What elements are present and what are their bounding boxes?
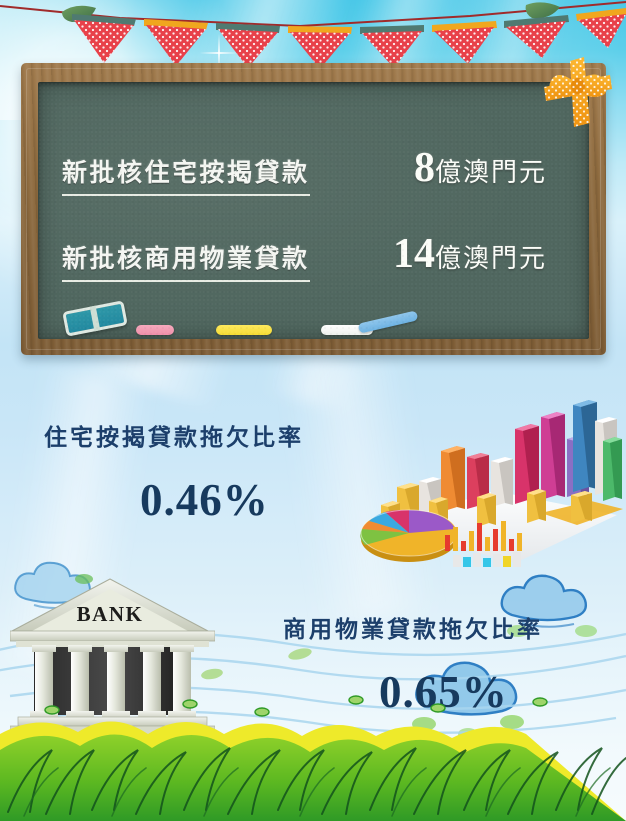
bunting-banner xyxy=(0,0,626,70)
board-value-number: 14 xyxy=(393,231,435,277)
board-value-unit: 億澳門元 xyxy=(435,244,547,273)
stat-value: 0.46% xyxy=(140,474,304,526)
stat-title: 住宅按揭貸款拖欠比率 xyxy=(44,418,304,452)
ribbon-bow-icon xyxy=(540,53,614,139)
chalkboard: 新批核住宅按揭貸款 8億澳門元 新批核商用物業貸款 14億澳門元 xyxy=(21,63,606,355)
stat-title: 商用物業貸款拖欠比率 xyxy=(283,610,543,644)
board-row: 新批核住宅按揭貸款 8億澳門元 xyxy=(38,144,589,196)
eraser-icon xyxy=(62,300,128,336)
board-row: 新批核商用物業貸款 14億澳門元 xyxy=(38,230,589,282)
stat-block-residential-delinquency: 住宅按揭貸款拖欠比率 0.46% xyxy=(44,418,304,526)
board-label-residential-loans: 新批核住宅按揭貸款 xyxy=(62,153,310,196)
chalk-stick-yellow-icon xyxy=(216,325,272,335)
bank-sign-text: BANK xyxy=(77,602,144,626)
board-value-commercial-loans: 14億澳門元 xyxy=(393,230,547,278)
chalkboard-surface: 新批核住宅按揭貸款 8億澳門元 新批核商用物業貸款 14億澳門元 xyxy=(38,82,589,339)
board-value-residential-loans: 8億澳門元 xyxy=(414,144,547,192)
board-label-commercial-loans: 新批核商用物業貸款 xyxy=(62,239,310,282)
chalk-stick-pink-icon xyxy=(136,325,174,335)
infographic-poster: 新批核住宅按揭貸款 8億澳門元 新批核商用物業貸款 14億澳門元 xyxy=(0,0,626,821)
chart-illustration xyxy=(345,395,626,580)
board-value-number: 8 xyxy=(414,145,435,191)
grass-illustration xyxy=(0,686,626,821)
chalk-stick-blue-icon xyxy=(358,310,419,333)
board-value-unit: 億澳門元 xyxy=(435,158,547,187)
